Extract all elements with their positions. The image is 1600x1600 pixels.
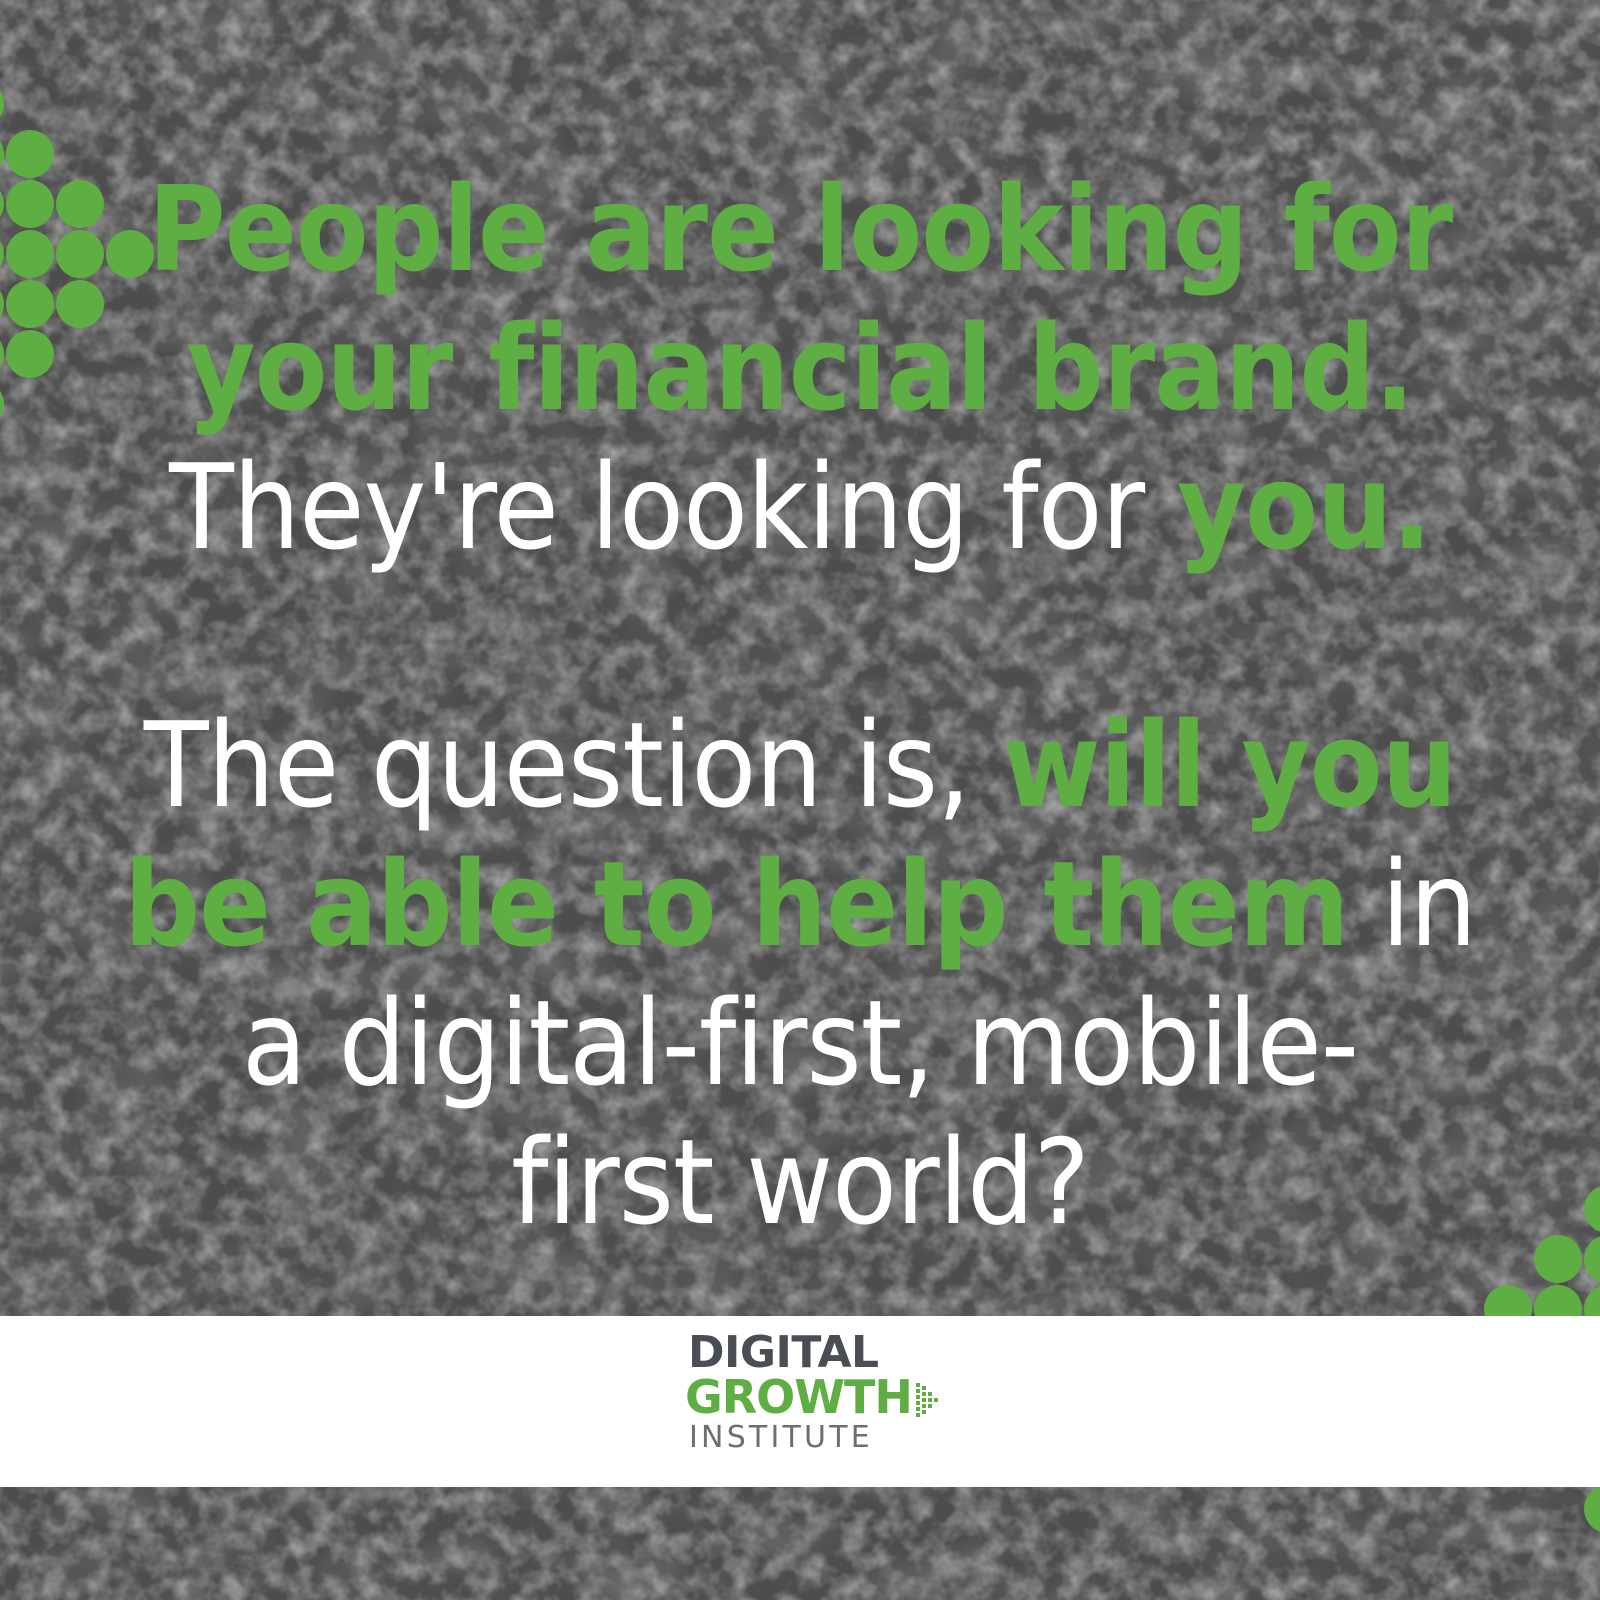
headline-line: They're looking for you. <box>110 438 1490 577</box>
headline-segment: you. <box>1177 438 1431 576</box>
headline-segment: be able to help them <box>124 835 1348 973</box>
paragraph-spacer <box>110 578 1490 696</box>
headline-segment: first world? <box>511 1113 1089 1251</box>
poster-canvas: People are looking for your financial br… <box>0 0 1600 1600</box>
headline-line: The question is, will you <box>110 696 1490 835</box>
headline-segment: your financial brand. <box>186 299 1413 437</box>
headline-paragraph-1: People are looking for your financial br… <box>110 160 1490 578</box>
headline-segment: People are looking for <box>148 160 1452 298</box>
headline-line: People are looking for <box>110 160 1490 299</box>
logo-word-digital: DIGITAL <box>685 1332 915 1374</box>
headline-line: first world? <box>110 1113 1490 1252</box>
logo-growth-row: GROWTH <box>685 1375 915 1419</box>
headline-segment: a digital-first, mobile- <box>242 974 1358 1112</box>
headline-segment: They're looking for <box>169 438 1177 576</box>
headline-block: People are looking for your financial br… <box>0 160 1600 1253</box>
headline-paragraph-2: The question is, will you be able to hel… <box>110 696 1490 1253</box>
headline-line: your financial brand. <box>110 299 1490 438</box>
headline-segment: will you <box>1002 696 1456 834</box>
headline-segment: in <box>1348 835 1476 973</box>
logo-word-growth: GROWTH <box>685 1375 912 1419</box>
logo: DIGITAL GROWTH INSTITUTE <box>685 1332 915 1455</box>
headline-line: be able to help them in <box>110 835 1490 974</box>
logo-word-institute: INSTITUTE <box>685 1421 915 1455</box>
headline-segment: The question is, <box>144 696 1003 834</box>
headline-line: a digital-first, mobile- <box>110 974 1490 1113</box>
